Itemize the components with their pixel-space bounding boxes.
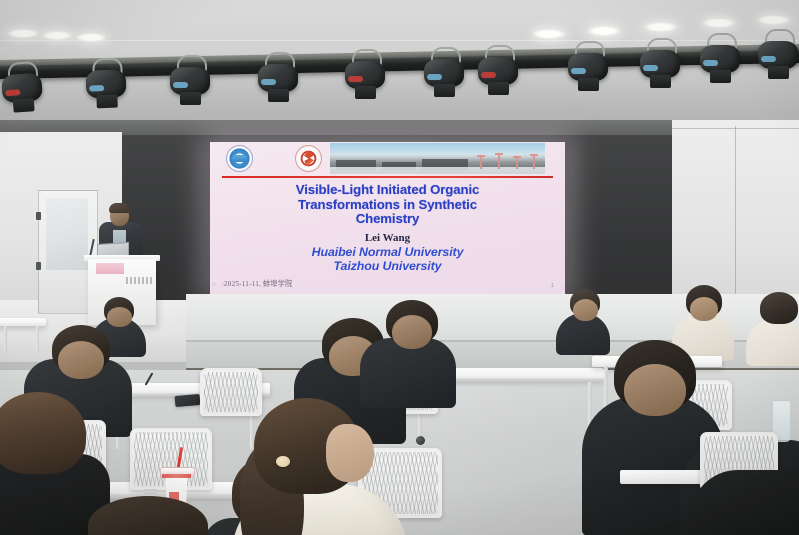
- banner-sky: [330, 143, 545, 155]
- wall-panel-seam: [672, 128, 799, 129]
- slide-title: Visible-Light Initiated Organic Transfor…: [222, 183, 553, 227]
- stage-light-fixture: [640, 38, 680, 90]
- lamp-body: [568, 53, 608, 81]
- presenter-glasses-icon: [111, 212, 128, 216]
- taizhou-university-logo-icon: [295, 145, 322, 172]
- banner-foreground: [330, 167, 545, 174]
- lamp-base: [180, 92, 201, 105]
- lamp-body: [758, 41, 798, 69]
- ceiling-downlight: [703, 18, 735, 28]
- ceiling-downlight: [8, 29, 38, 38]
- stage-light-fixture: [700, 33, 740, 85]
- lamp-body: [640, 50, 680, 78]
- lamp-lens: [481, 72, 496, 78]
- lamp-body: [700, 45, 740, 73]
- stage-light-fixture: [258, 52, 298, 104]
- lamp-body: [424, 59, 464, 87]
- lamp-base: [434, 84, 455, 97]
- lamp-base: [355, 86, 376, 99]
- huaibei-normal-university-logo-icon: [226, 145, 253, 172]
- lamp-lens: [703, 60, 718, 66]
- lamp-base: [578, 78, 599, 91]
- banner-tower: [480, 155, 482, 169]
- smartphone-on-table: [175, 394, 201, 407]
- lamp-base: [268, 89, 289, 102]
- lamp-body: [478, 57, 518, 85]
- slide-header: [210, 142, 565, 175]
- attendee-head: [58, 341, 104, 379]
- door-hinge: [36, 212, 41, 220]
- lamp-lens: [173, 82, 188, 88]
- slide-page-number: 1: [550, 282, 554, 289]
- lamp-base: [650, 75, 671, 88]
- lamp-base: [488, 82, 509, 95]
- slide-title-line-3: Chemistry: [222, 212, 553, 227]
- lamp-base: [96, 95, 117, 109]
- affiliation-secondary: Taizhou University: [222, 259, 553, 273]
- slide-author-block: Lei Wang Huaibei Normal University Taizh…: [222, 232, 553, 273]
- lamp-body: [345, 61, 385, 89]
- mesh-chair: [200, 368, 262, 416]
- lamp-base: [13, 98, 35, 112]
- lamp-lens: [5, 89, 20, 96]
- stage-light-fixture: [0, 61, 44, 116]
- attendee-head: [624, 364, 686, 416]
- slide-divider-rule: [222, 176, 553, 178]
- table-leg: [36, 326, 39, 352]
- door-glass-panel: [46, 198, 88, 270]
- door-hinge: [36, 262, 41, 270]
- affiliation-primary: Huaibei Normal University: [222, 245, 553, 259]
- cup-label-band: [162, 474, 191, 478]
- side-table: [0, 318, 46, 326]
- ceiling-downlight: [645, 22, 677, 32]
- lamp-lens: [427, 74, 442, 80]
- attendee-head: [392, 315, 432, 349]
- ceiling-downlight: [76, 33, 106, 42]
- stage-light-fixture: [170, 55, 210, 107]
- slide-footer-date-venue: 2025-11-11, 蚌埠学院: [224, 279, 293, 289]
- chair-mesh: [204, 372, 258, 412]
- lamp-lens: [571, 68, 586, 74]
- campus-panorama-banner: [330, 143, 545, 174]
- ceiling-downlight: [533, 29, 565, 39]
- presentation-slide: Visible-Light Initiated Organic Transfor…: [210, 142, 565, 294]
- attendee-head: [573, 299, 598, 321]
- slide-title-line-1: Visible-Light Initiated Organic: [222, 183, 553, 198]
- stage-light-fixture: [424, 47, 464, 99]
- ceiling-downlight: [588, 26, 620, 36]
- podium-sign: [96, 263, 124, 274]
- banner-tower: [533, 154, 535, 169]
- logo-inner-mark: [232, 155, 247, 162]
- slide-title-line-2: Transformations in Synthetic: [222, 198, 553, 213]
- table-caster: [416, 436, 425, 445]
- attendee-head: [326, 424, 374, 482]
- projection-screen: Visible-Light Initiated Organic Transfor…: [210, 142, 565, 294]
- lecture-hall-photo: Visible-Light Initiated Organic Transfor…: [0, 0, 799, 535]
- banner-tower: [516, 156, 518, 169]
- lamp-base: [710, 70, 731, 83]
- table-leg: [4, 326, 7, 352]
- author-name: Lei Wang: [222, 232, 553, 245]
- stage-light-fixture: [85, 57, 127, 110]
- stage-light-fixture: [478, 45, 518, 97]
- attendee-head: [107, 307, 132, 327]
- hair-scrunchie: [276, 456, 290, 467]
- logo-inner-mark: [303, 151, 314, 166]
- lamp-body: [258, 64, 298, 92]
- lamp-lens: [348, 76, 363, 82]
- lamp-body: [170, 67, 210, 95]
- podium-sign-text: [126, 277, 152, 284]
- stage-light-fixture: [568, 41, 608, 93]
- ceiling-downlight: [42, 31, 72, 40]
- lamp-lens: [89, 85, 104, 92]
- banner-tower: [498, 153, 500, 169]
- lamp-lens: [643, 65, 658, 71]
- stage-light-fixture: [345, 49, 385, 101]
- ceiling-downlight: [758, 15, 790, 25]
- attendee-head: [690, 297, 718, 321]
- stage-light-fixture: [758, 29, 798, 81]
- lamp-lens: [261, 79, 276, 85]
- lamp-lens: [761, 56, 776, 62]
- attendee-hair: [0, 392, 86, 474]
- lamp-base: [768, 66, 789, 79]
- attendee-hair: [760, 292, 798, 324]
